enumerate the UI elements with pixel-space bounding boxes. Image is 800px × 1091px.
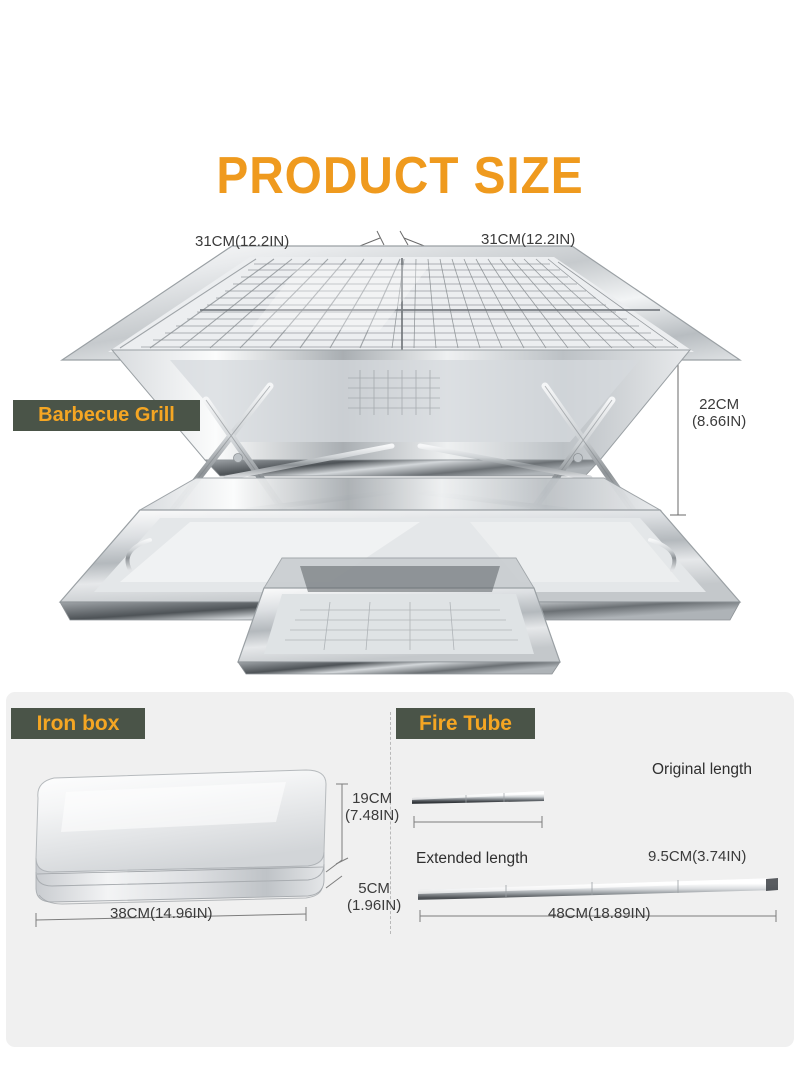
grill-width-right-label: 31CM(12.2IN) [481,231,575,248]
iron-box-height-in: (1.96IN) [347,897,401,914]
grill-height-cm: 22CM [692,396,746,413]
iron-box-depth-cm: 19CM [345,790,399,807]
badge-barbecue-grill: Barbecue Grill [13,400,200,431]
page-title: PRODUCT SIZE [32,146,768,206]
grill-height-label: 22CM (8.66IN) [692,396,746,431]
iron-box-height-cm: 5CM [347,880,401,897]
iron-box-height-label: 5CM (1.96IN) [347,880,401,915]
fire-tube-extended-measure: 48CM(18.89IN) [548,905,651,922]
fire-tube-extended-label: Extended length [416,850,528,868]
grill-width-left-label: 31CM(12.2IN) [195,233,289,250]
iron-box-width-label: 38CM(14.96IN) [110,905,213,922]
iron-box-depth-label: 19CM (7.48IN) [345,790,399,825]
iron-box-depth-in: (7.48IN) [345,807,399,824]
fire-tube-original-measure: 9.5CM(3.74IN) [648,848,746,865]
fire-tube-original-label: Original length [652,761,752,779]
grill-illustration [0,210,800,680]
grill-height-in: (8.66IN) [692,413,746,430]
